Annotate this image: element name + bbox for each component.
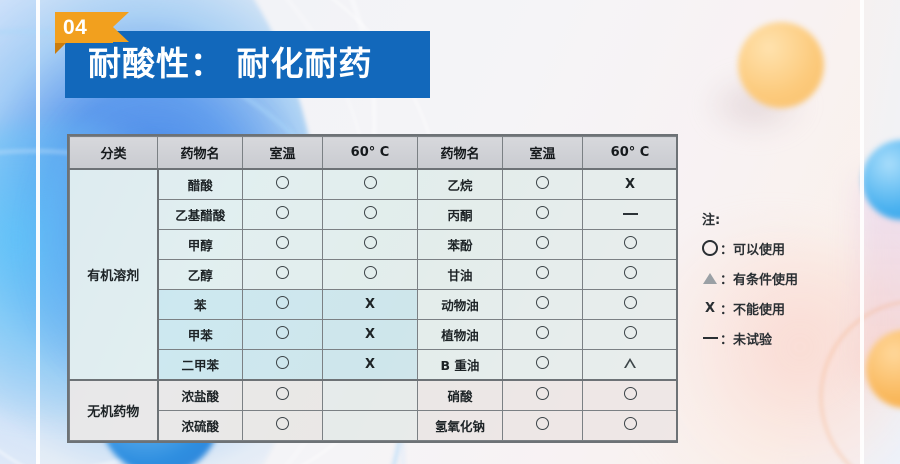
category-cell: 有机溶剂: [70, 169, 158, 380]
divider-left: [36, 0, 40, 464]
chemical-name-a: 苯: [158, 290, 243, 320]
chemical-name-b: 甘油: [418, 259, 503, 289]
table-row: 二甲苯XB 重油: [70, 350, 678, 380]
result-60c-a: [323, 380, 418, 410]
legend-item-untested: ： 未试验: [702, 323, 798, 353]
result-roomtemp-b: [503, 290, 583, 320]
column-header-60c-a: 60° C: [323, 137, 418, 170]
legend-usable-label: 可以使用: [733, 239, 785, 258]
circle-icon: [276, 266, 289, 279]
result-roomtemp-a: [243, 290, 323, 320]
chemical-name-b: 动物油: [418, 290, 503, 320]
table-row: 有机溶剂醋酸乙烷X: [70, 169, 678, 199]
legend-usable-text: ：: [720, 239, 733, 258]
chemical-name-a: 二甲苯: [158, 350, 243, 380]
circle-icon: [364, 266, 377, 279]
page-title: 耐酸性： 耐化耐药: [88, 38, 373, 90]
section-number-tag-arrow: [113, 12, 129, 42]
table: 分类 药物名 室温 60° C 药物名 室温 60° C 有机溶剂醋酸乙烷X乙基…: [69, 136, 678, 441]
circle-icon: [536, 206, 549, 219]
circle-icon: [364, 176, 377, 189]
column-header-roomtemp-b: 室温: [503, 137, 583, 170]
chemical-name-a: 醋酸: [158, 169, 243, 199]
chemical-name-a: 乙醇: [158, 259, 243, 289]
result-roomtemp-b: [503, 199, 583, 229]
chemical-name-a: 甲醇: [158, 229, 243, 259]
legend-conditional-label: 有条件使用: [733, 269, 798, 288]
chemical-name-a: 乙基醋酸: [158, 199, 243, 229]
chemical-name-b: 硝酸: [418, 380, 503, 410]
chemical-name-b: 苯酚: [418, 229, 503, 259]
section-number-tag-fold: [55, 43, 66, 54]
triangle-icon: [624, 358, 636, 368]
chemical-name-b: 氢氧化钠: [418, 410, 503, 440]
table-row: 苯X动物油: [70, 290, 678, 320]
legend-item-not-usable: X ： 不能使用: [702, 293, 798, 323]
circle-icon: [536, 417, 549, 430]
circle-icon: [276, 206, 289, 219]
table-header-row: 分类 药物名 室温 60° C 药物名 室温 60° C: [70, 137, 678, 170]
circle-icon: [624, 387, 637, 400]
circle-icon: [536, 356, 549, 369]
result-60c-b: [583, 259, 678, 289]
chemical-name-b: B 重油: [418, 350, 503, 380]
dash-icon: [702, 337, 718, 340]
table-row: 无机药物浓盐酸硝酸: [70, 380, 678, 410]
circle-icon: [276, 326, 289, 339]
chemical-name-a: 甲苯: [158, 320, 243, 350]
circle-icon: [364, 206, 377, 219]
legend-untested-sep: ：: [720, 329, 733, 348]
circle-icon: [364, 236, 377, 249]
chemical-resistance-table: 分类 药物名 室温 60° C 药物名 室温 60° C 有机溶剂醋酸乙烷X乙基…: [67, 134, 678, 443]
column-header-60c-b: 60° C: [583, 137, 678, 170]
result-roomtemp-b: [503, 350, 583, 380]
result-roomtemp-b: [503, 380, 583, 410]
circle-icon: [536, 387, 549, 400]
result-60c-b: [583, 410, 678, 440]
circle-icon: [624, 326, 637, 339]
result-60c-a: [323, 199, 418, 229]
result-roomtemp-a: [243, 199, 323, 229]
result-60c-a: [323, 169, 418, 199]
column-header-chemical-a: 药物名: [158, 137, 243, 170]
chemical-name-a: 浓盐酸: [158, 380, 243, 410]
chemical-name-b: 植物油: [418, 320, 503, 350]
slide-canvas: 04 耐酸性： 耐化耐药 分类 药物名 室温 60° C 药物名 室温 60° …: [0, 0, 900, 464]
table-row: 乙基醋酸丙酮: [70, 199, 678, 229]
legend-title-label: 注:: [702, 209, 720, 228]
legend-item-conditional: ： 有条件使用: [702, 263, 798, 293]
legend-not-usable-label: 不能使用: [733, 299, 785, 318]
column-header-roomtemp-a: 室温: [243, 137, 323, 170]
result-roomtemp-b: [503, 320, 583, 350]
circle-icon: [536, 296, 549, 309]
divider-right: [860, 0, 864, 464]
circle-icon: [276, 387, 289, 400]
result-roomtemp-a: [243, 169, 323, 199]
result-roomtemp-a: [243, 229, 323, 259]
circle-icon: [624, 266, 637, 279]
table-row: 浓硫酸氢氧化钠: [70, 410, 678, 440]
circle-icon: [276, 356, 289, 369]
result-roomtemp-b: [503, 169, 583, 199]
circle-icon: [276, 296, 289, 309]
category-cell: 无机药物: [70, 380, 158, 440]
result-60c-a: [323, 410, 418, 440]
dash-icon: [623, 213, 638, 215]
circle-icon: [624, 417, 637, 430]
legend: 注: ： 可以使用 ： 有条件使用 X ： 不能使用 ： 未试验: [702, 203, 798, 353]
result-60c-a: [323, 259, 418, 289]
result-60c-a: X: [323, 320, 418, 350]
result-roomtemp-a: [243, 410, 323, 440]
circle-icon: [536, 176, 549, 189]
decor-orange-ball-top-right: [738, 22, 824, 108]
result-60c-a: X: [323, 290, 418, 320]
chemical-name-b: 丙酮: [418, 199, 503, 229]
circle-icon: [276, 417, 289, 430]
table-row: 甲苯X植物油: [70, 320, 678, 350]
table-row: 甲醇苯酚: [70, 229, 678, 259]
legend-title: 注:: [702, 203, 798, 233]
cross-icon: X: [702, 301, 718, 316]
result-roomtemp-b: [503, 229, 583, 259]
result-roomtemp-b: [503, 259, 583, 289]
result-roomtemp-a: [243, 320, 323, 350]
legend-item-usable: ： 可以使用: [702, 233, 798, 263]
result-60c-b: [583, 380, 678, 410]
triangle-icon: [702, 273, 718, 284]
circle-icon: [702, 240, 718, 256]
chemical-name-b: 乙烷: [418, 169, 503, 199]
column-header-category: 分类: [70, 137, 158, 170]
legend-untested-label: 未试验: [733, 329, 772, 348]
table-body: 有机溶剂醋酸乙烷X乙基醋酸丙酮甲醇苯酚乙醇甘油苯X动物油甲苯X植物油二甲苯XB …: [70, 169, 678, 441]
chemical-name-a: 浓硫酸: [158, 410, 243, 440]
result-60c-b: [583, 350, 678, 380]
circle-icon: [536, 236, 549, 249]
section-number-label: 04: [63, 14, 87, 42]
result-60c-a: X: [323, 350, 418, 380]
result-60c-b: X: [583, 169, 678, 199]
circle-icon: [624, 236, 637, 249]
result-60c-b: [583, 229, 678, 259]
circle-icon: [276, 236, 289, 249]
result-60c-a: [323, 229, 418, 259]
circle-icon: [536, 266, 549, 279]
result-60c-b: [583, 199, 678, 229]
circle-icon: [624, 296, 637, 309]
legend-not-usable-sep: ：: [720, 299, 733, 318]
table-row: 乙醇甘油: [70, 259, 678, 289]
circle-icon: [536, 326, 549, 339]
legend-conditional-sep: ：: [720, 269, 733, 288]
result-roomtemp-b: [503, 410, 583, 440]
result-roomtemp-a: [243, 350, 323, 380]
result-60c-b: [583, 290, 678, 320]
circle-icon: [276, 176, 289, 189]
result-60c-b: [583, 320, 678, 350]
result-roomtemp-a: [243, 380, 323, 410]
column-header-chemical-b: 药物名: [418, 137, 503, 170]
result-roomtemp-a: [243, 259, 323, 289]
